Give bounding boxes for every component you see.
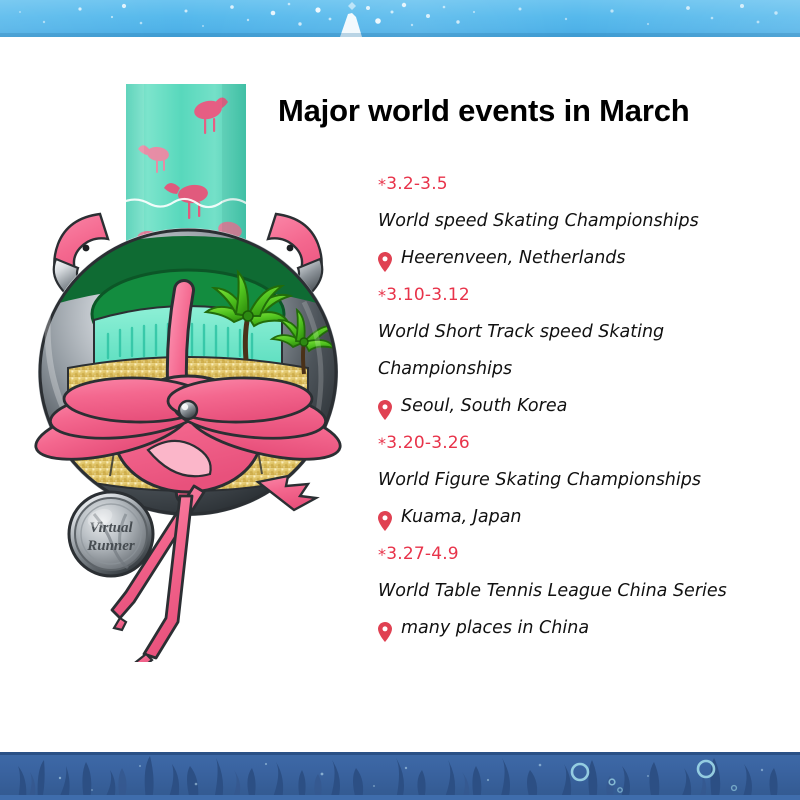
virtual-runner-emblem: Virtual Runner	[69, 492, 153, 576]
asterisk-icon: *	[378, 277, 386, 314]
bottom-seaweed-band	[0, 752, 800, 800]
location-pin-icon	[378, 619, 392, 639]
event-place-text: Kuama, Japan	[401, 499, 522, 536]
event-place: Seoul, South Korea	[378, 388, 778, 425]
events-list: *3.2-3.5 World speed Skating Championshi…	[378, 166, 778, 647]
event-place: Heerenveen, Netherlands	[378, 240, 778, 277]
location-pin-icon	[378, 397, 392, 417]
poster-canvas: Major world events in March	[0, 0, 800, 800]
event-name-continued: Championships	[378, 351, 778, 388]
location-pin-icon	[378, 508, 392, 528]
asterisk-icon: *	[378, 536, 386, 573]
event-date: *3.2-3.5	[378, 166, 778, 203]
asterisk-icon: *	[378, 425, 386, 462]
seaweed-silhouette-icon	[0, 752, 800, 800]
event-date-text: 3.2-3.5	[386, 166, 448, 203]
bottom-band-bottom-edge	[0, 795, 800, 800]
event-name: World Short Track speed Skating	[378, 314, 778, 351]
asterisk-icon: *	[378, 166, 386, 203]
event-date-text: 3.20-3.26	[386, 425, 470, 462]
event-date-text: 3.27-4.9	[386, 536, 459, 573]
event-date: *3.27-4.9	[378, 536, 778, 573]
event-place: many places in China	[378, 610, 778, 647]
event-date: *3.20-3.26	[378, 425, 778, 462]
top-band-sheen	[0, 0, 800, 37]
location-pin-icon	[378, 249, 392, 269]
event-name: World Figure Skating Championships	[378, 462, 778, 499]
emblem-line2: Runner	[86, 538, 135, 554]
event-place: Kuama, Japan	[378, 499, 778, 536]
event-name: World speed Skating Championships	[378, 203, 778, 240]
flamingo-medal-image: Virtual Runner	[8, 62, 368, 662]
event-date-text: 3.10-3.12	[386, 277, 470, 314]
top-band-edge	[0, 33, 800, 37]
event-place-text: many places in China	[401, 610, 589, 647]
event-name: World Table Tennis League China Series	[378, 573, 778, 610]
event-place-text: Seoul, South Korea	[401, 388, 567, 425]
event-date: *3.10-3.12	[378, 277, 778, 314]
top-water-band	[0, 0, 800, 37]
flamingo-medal-icon: Virtual Runner	[8, 62, 368, 662]
event-place-text: Heerenveen, Netherlands	[401, 240, 626, 277]
